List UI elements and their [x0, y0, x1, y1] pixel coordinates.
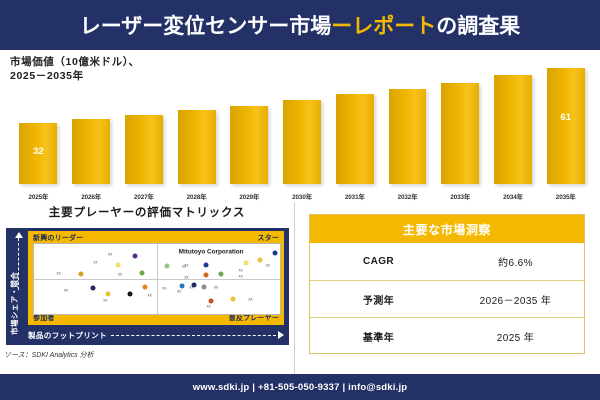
matrix-horizontal-divider: [34, 279, 280, 280]
evaluation-matrix-panel: 主要プレーヤーの評価マトリックス 市場シェア・競合 新興のリーダー スター 参加…: [0, 202, 295, 374]
matrix-data-point-label: xx: [57, 270, 61, 275]
x-axis-tick-label: 2034年: [487, 192, 540, 201]
bar-value-label: 32: [19, 146, 57, 157]
matrix-data-point: [140, 270, 145, 275]
insight-value: 約6.6%: [447, 254, 584, 269]
matrix-data-point-label: xx: [214, 285, 218, 290]
x-axis-tick-label: 2028年: [170, 192, 223, 201]
matrix-data-point-label: xx: [189, 285, 193, 290]
matrix-data-point: [258, 258, 263, 263]
market-value-bar-chart: 市場価値（10億米ドル）、 2025－2035年 3261 2025年2026年…: [0, 50, 600, 202]
insight-value: 2025 年: [447, 329, 584, 344]
insight-key: CAGR: [310, 256, 447, 267]
bar: [336, 94, 374, 184]
matrix-data-point: [204, 263, 209, 268]
insight-row: CAGR約6.6%: [310, 243, 584, 280]
x-axis-tick-label: 2031年: [328, 192, 381, 201]
matrix-data-point: [132, 253, 137, 258]
bar-column: [328, 58, 381, 184]
matrix-data-point: [78, 272, 83, 277]
quadrant-label-stars: スター: [257, 233, 279, 243]
matrix-data-point: [231, 296, 236, 301]
x-axis-tick-label: 2035年: [539, 192, 592, 201]
matrix-data-point: [243, 260, 248, 265]
x-axis-tick-label: 2030年: [276, 192, 329, 201]
matrix-data-point: [91, 286, 96, 291]
bar: [441, 83, 479, 184]
bar-column: [487, 58, 540, 184]
x-axis-tick-label: 2033年: [434, 192, 487, 201]
bar-column: [434, 58, 487, 184]
matrix-data-point-label: xx: [148, 293, 152, 298]
matrix-data-point: [142, 284, 147, 289]
arrow-right-icon: [278, 331, 284, 339]
x-axis-tick-label: 2032年: [381, 192, 434, 201]
source-note: ソース：SDKI Analytics 分析: [4, 350, 94, 360]
matrix-x-axis: 製品のフットプリント: [28, 328, 284, 342]
matrix-data-point-label: xx: [207, 304, 211, 309]
bar-column: [117, 58, 170, 184]
bar: [72, 119, 110, 184]
bar: 32: [19, 123, 57, 184]
matrix-data-point: [204, 272, 209, 277]
matrix-data-point: [105, 292, 110, 297]
matrix-scatter-area: xxxxxxxxxxxxxxxxxxxxxxxxxxxxxxxxxxxxxxMi…: [33, 243, 281, 315]
quadrant-label-emerging-leaders: 新興のリーダー: [33, 233, 83, 243]
x-axis-tick-label: 2027年: [117, 192, 170, 201]
matrix-data-point: [201, 285, 206, 290]
bar-column: [170, 58, 223, 184]
bar-value-label: 61: [547, 112, 585, 123]
matrix-data-point: [209, 298, 214, 303]
bar-column: [381, 58, 434, 184]
matrix-y-axis: 市場シェア・競合: [6, 228, 28, 345]
matrix-data-point-label: xx: [248, 297, 252, 302]
matrix-data-point-label: xx: [184, 274, 188, 279]
bar-column: 61: [539, 58, 592, 184]
matrix-y-axis-label: 市場シェア・競合: [9, 253, 20, 335]
bar-column: [223, 58, 276, 184]
matrix-data-point: [115, 263, 120, 268]
bar: [494, 75, 532, 184]
bar-column: [65, 58, 118, 184]
insight-row: 基準年2025 年: [310, 317, 584, 354]
x-axis-tick-label: 2025年: [12, 192, 65, 201]
matrix-data-point-label: xx: [239, 267, 243, 272]
matrix-data-point-label: xx: [177, 288, 181, 293]
bar-column: [276, 58, 329, 184]
page-header: レーザー変位センサー市場ーレポートの調査果: [0, 0, 600, 50]
matrix-data-point: [218, 272, 223, 277]
matrix-data-point: [127, 291, 132, 296]
matrix-data-point: [164, 263, 169, 268]
x-axis-dashed-line: [111, 335, 276, 336]
chart-x-axis: 2025年2026年2027年2028年2029年2030年2031年2032年…: [12, 192, 592, 201]
insight-key: 予測年: [310, 292, 447, 307]
matrix-data-point-label: xx: [93, 260, 97, 265]
footer-contact-text: www.sdki.jp | +81-505-050-9337 | info@sd…: [193, 382, 408, 393]
matrix-data-point: [273, 251, 278, 256]
matrix-data-point-label: xx: [103, 298, 107, 303]
matrix-highlight-company-label: Mitutoyo Corporation: [179, 249, 244, 256]
x-axis-tick-label: 2026年: [65, 192, 118, 201]
matrix-data-point-label: xx: [108, 251, 112, 256]
matrix-x-axis-label: 製品のフットプリント: [28, 330, 107, 341]
key-insights-panel: 主要な市場洞察 CAGR約6.6%予測年2026－2035 年基準年2025 年: [295, 202, 600, 374]
matrix-data-point-label: xx: [162, 286, 166, 291]
lower-section: 主要プレーヤーの評価マトリックス 市場シェア・競合 新興のリーダー スター 参加…: [0, 202, 600, 374]
matrix-data-point-label: xx: [239, 273, 243, 278]
matrix-data-point-label: xx: [64, 288, 68, 293]
chart-plot-area: 3261: [12, 58, 592, 184]
page-footer: www.sdki.jp | +81-505-050-9337 | info@sd…: [0, 374, 600, 400]
page-title: レーザー変位センサー市場ーレポートの調査果: [80, 10, 521, 40]
infographic-page: レーザー変位センサー市場ーレポートの調査果 市場価値（10億米ドル）、 2025…: [0, 0, 600, 400]
bar: [389, 89, 427, 184]
bar: [283, 100, 321, 184]
key-insights-table: 主要な市場洞察 CAGR約6.6%予測年2026－2035 年基準年2025 年: [309, 214, 585, 354]
matrix-title: 主要プレーヤーの評価マトリックス: [0, 204, 294, 220]
insight-value: 2026－2035 年: [447, 292, 584, 307]
matrix-quadrant-band: 新興のリーダー スター 参加者 普及プレーヤー xxxxxxxxxxxxxxxx…: [28, 231, 284, 325]
arrow-up-icon: [15, 232, 23, 238]
bar: 61: [547, 68, 585, 184]
key-insights-heading: 主要な市場洞察: [310, 215, 584, 243]
bar: [230, 106, 268, 184]
bar: [178, 110, 216, 184]
bar-column: 32: [12, 58, 65, 184]
matrix-data-point-label: xx: [266, 263, 270, 268]
matrix-data-point-label: xx: [118, 272, 122, 277]
title-segment-accent: ーレポート: [331, 15, 436, 38]
key-insights-rows: CAGR約6.6%予測年2026－2035 年基準年2025 年: [310, 243, 584, 354]
bar: [125, 115, 163, 184]
x-axis-tick-label: 2029年: [223, 192, 276, 201]
matrix-data-point-label: xx: [184, 263, 188, 268]
insight-row: 予測年2026－2035 年: [310, 280, 584, 317]
title-segment-primary: レーザー変位センサー市場: [80, 15, 332, 38]
insight-key: 基準年: [310, 329, 447, 344]
title-segment-secondary: の調査果: [436, 15, 520, 38]
matrix-frame: 市場シェア・競合 新興のリーダー スター 参加者 普及プレーヤー xxxxxxx…: [6, 228, 289, 345]
